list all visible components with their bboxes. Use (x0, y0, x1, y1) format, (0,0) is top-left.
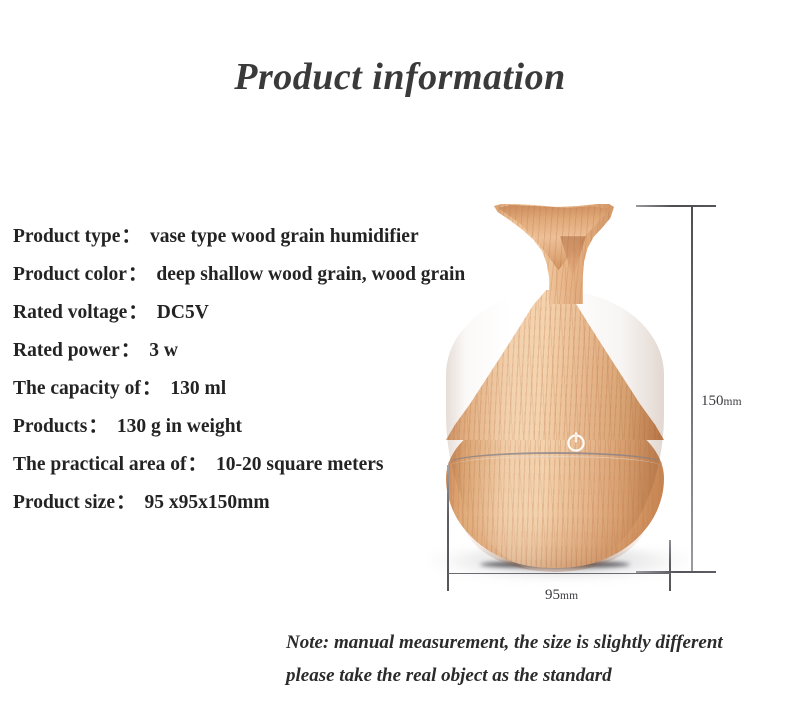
vase-upper-body (446, 290, 664, 440)
spec-value: vase type wood grain humidifier (150, 226, 419, 247)
spec-colon: ： (120, 336, 150, 366)
page-title: Product information (0, 55, 800, 99)
spec-colon: ： (127, 260, 157, 290)
height-unit: mm (724, 396, 742, 408)
vase-seam-highlight (450, 456, 660, 476)
product-image (420, 190, 700, 590)
spec-label: Products (13, 416, 87, 437)
spec-colon: ： (141, 374, 171, 404)
vase-mouth-opening (498, 205, 610, 273)
height-dimension-tick-top (636, 205, 716, 207)
width-dimension-line (448, 573, 671, 574)
height-dimension-label: 150mm (701, 393, 742, 410)
measurement-note: Note: manual measurement, the size is sl… (286, 626, 796, 692)
width-dimension-tick-right (669, 540, 671, 591)
spec-value: deep shallow wood grain, wood grain (156, 264, 465, 285)
spec-colon: ： (186, 450, 216, 480)
spec-label: Rated power (13, 340, 120, 361)
spec-label: Rated voltage (13, 302, 127, 323)
width-dimension-label: 95mm (545, 587, 578, 604)
spec-label: Product color (13, 264, 127, 285)
vase-bulb-bottom-shading (462, 516, 648, 572)
width-value: 95 (545, 587, 560, 603)
product-information-page: Product information Product type：vase ty… (0, 0, 800, 720)
spec-value: 130 g in weight (117, 416, 242, 437)
note-line-1: Note: manual measurement, the size is sl… (286, 626, 796, 659)
height-value: 150 (701, 393, 724, 409)
note-line-2: please take the real object as the stand… (286, 659, 796, 692)
height-dimension-line (691, 206, 693, 572)
spec-colon: ： (87, 412, 117, 442)
spec-value: 130 ml (170, 378, 226, 399)
humidifier-vase (420, 190, 700, 575)
width-unit: mm (560, 590, 578, 602)
spec-label: The practical area of (13, 454, 186, 475)
spec-label: Product type (13, 226, 120, 247)
power-icon[interactable] (564, 430, 588, 454)
spec-value: 10-20 square meters (216, 454, 384, 475)
spec-value: DC5V (157, 302, 209, 323)
spec-colon: ： (127, 298, 157, 328)
spec-colon: ： (115, 488, 145, 518)
spec-value: 95 x95x150mm (145, 492, 270, 513)
spec-label: The capacity of (13, 378, 141, 399)
spec-value: 3 w (149, 340, 178, 361)
spec-label: Product size (13, 492, 115, 513)
spec-colon: ： (120, 222, 150, 252)
